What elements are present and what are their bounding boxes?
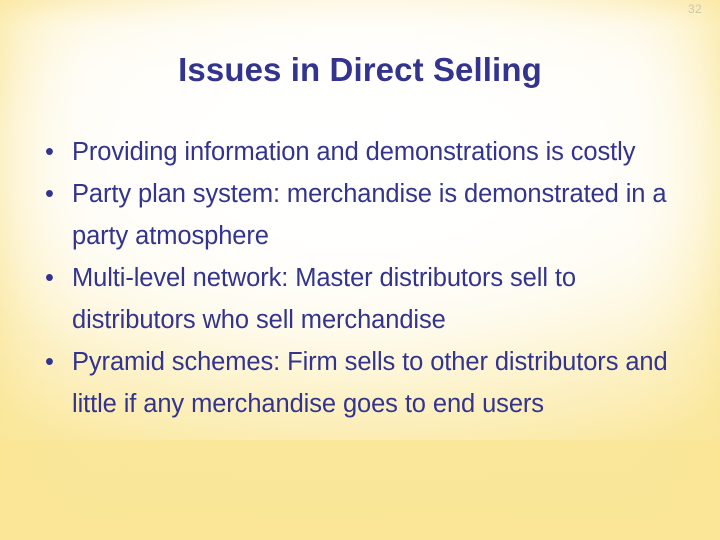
- bullet-item-label: Party plan system: merchandise is demons…: [72, 173, 688, 257]
- bullet-list: • Providing information and demonstratio…: [40, 131, 688, 425]
- page-number: 32: [688, 3, 702, 15]
- bullet-item-1: • Providing information and demonstratio…: [40, 131, 688, 173]
- bullet-item-4: • Pyramid schemes: Firm sells to other d…: [40, 341, 688, 425]
- slide-content: 32 Issues in Direct Selling • Providing …: [0, 0, 720, 540]
- bullet-item-label: Providing information and demonstrations…: [72, 131, 688, 173]
- bullet-dot-icon: •: [45, 341, 67, 383]
- bullet-dot-icon: •: [45, 257, 67, 299]
- bullet-item-3: • Multi-level network: Master distributo…: [40, 257, 688, 341]
- slide-title: Issues in Direct Selling: [0, 51, 720, 89]
- bullet-item-2: • Party plan system: merchandise is demo…: [40, 173, 688, 257]
- bullet-dot-icon: •: [45, 173, 67, 215]
- bullet-item-label: Multi-level network: Master distributors…: [72, 257, 688, 341]
- bullet-item-label: Pyramid schemes: Firm sells to other dis…: [72, 341, 688, 425]
- slide-canvas: 32 Issues in Direct Selling • Providing …: [0, 0, 720, 540]
- bullet-dot-icon: •: [45, 131, 67, 173]
